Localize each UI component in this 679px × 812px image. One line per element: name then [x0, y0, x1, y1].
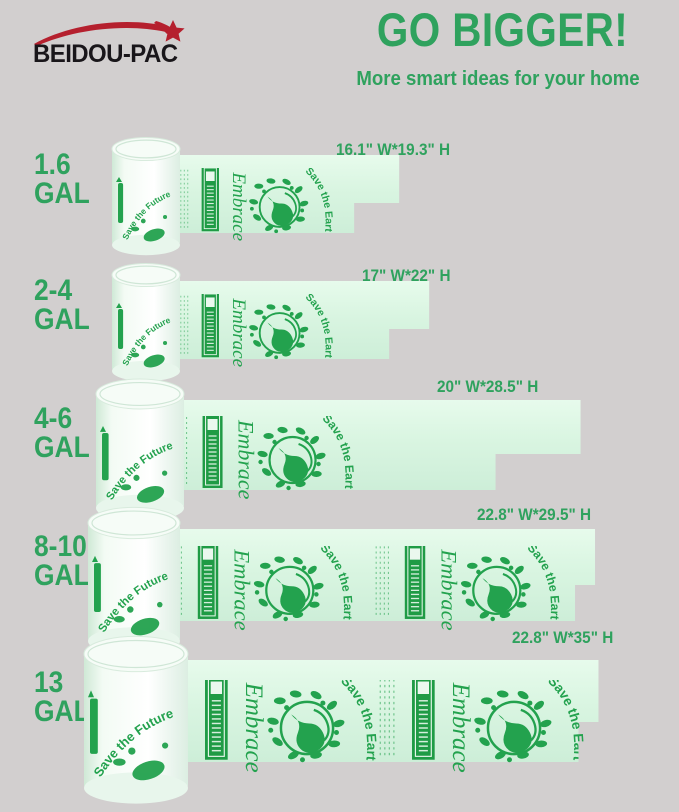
barcode-strip-icon: [202, 165, 219, 231]
subheadline: More smart ideas for your home: [334, 68, 661, 91]
barcode-strip-icon: [202, 291, 219, 357]
bag-roll: Save the Future: [84, 636, 188, 803]
barcode-strip-icon: [405, 541, 425, 619]
brand-logo: BEIDOU-PAC: [30, 18, 250, 68]
bag-roll: Save the Future: [88, 507, 180, 654]
embrace-print-text: Embrace: [230, 548, 255, 630]
embrace-print-text: Embrace: [234, 419, 259, 500]
embrace-print-text: Embrace: [228, 171, 249, 241]
brand-name: BEIDOU-PAC: [33, 40, 177, 69]
bag-roll-product: Embrace Save the Earth: [0, 142, 679, 272]
bag-roll: Save the Future: [96, 379, 184, 521]
barcode-strip-icon: [198, 541, 218, 619]
bag-roll: Save the Future: [112, 263, 180, 381]
bag-roll: Save the Future: [112, 137, 180, 255]
size-row: 13 GAL 22.8" W*35" H: [0, 640, 679, 812]
barcode-strip-icon: [205, 674, 228, 760]
bag-roll-product: Embrace Save the Earth: [0, 268, 679, 398]
barcode-strip-icon: [203, 412, 223, 488]
embrace-print-text: Embrace: [447, 682, 474, 773]
bag-sheet: [154, 281, 429, 359]
barcode-strip-icon: [412, 674, 435, 760]
headline: GO BIGGER!: [354, 6, 651, 54]
size-row: 1.6 GAL 16.1" W*19.3" H: [0, 142, 679, 276]
embrace-print-text: Embrace: [228, 297, 249, 367]
header: BEIDOU-PAC GO BIGGER! More smart ideas f…: [0, 0, 679, 118]
size-row: 2-4 GAL 17" W*22" H: [0, 268, 679, 402]
embrace-print-text: Embrace: [240, 682, 267, 773]
embrace-print-text: Embrace: [437, 548, 462, 630]
infographic-page: BEIDOU-PAC GO BIGGER! More smart ideas f…: [0, 0, 679, 783]
